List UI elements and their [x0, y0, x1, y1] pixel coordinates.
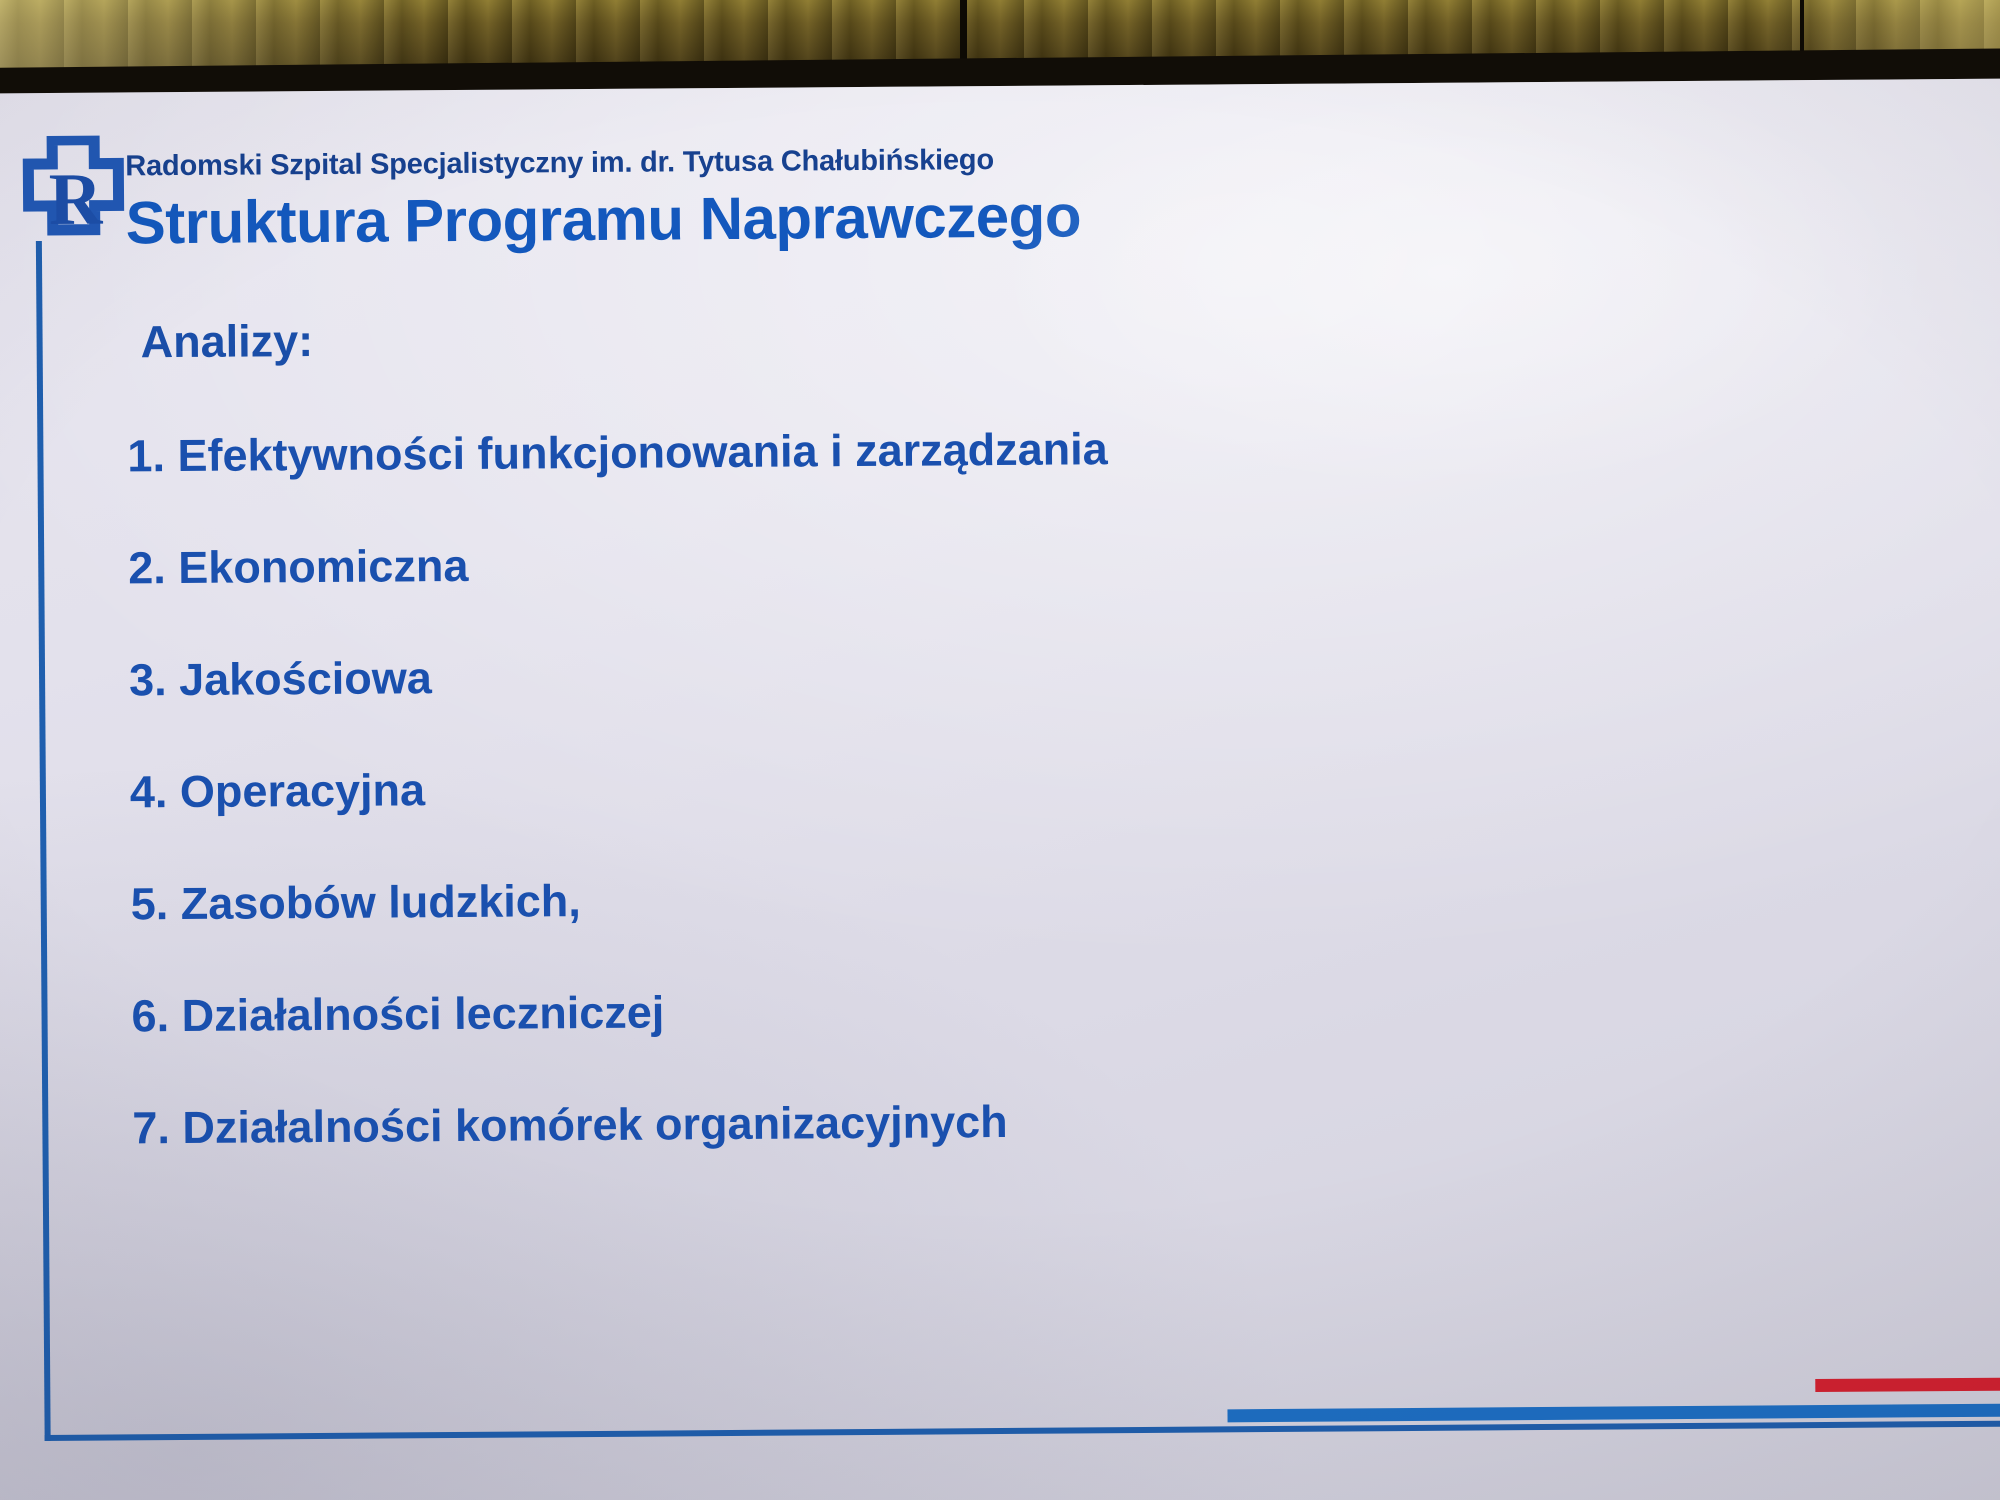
list-item: 6. Działalności leczniczej — [131, 978, 1831, 1042]
slide-body: Analizy: 1. Efektywności funkcjonowania … — [126, 304, 1833, 1214]
list-item: 5. Zasobów ludzkich, — [131, 866, 1831, 930]
hospital-cross-r-logo: R — [15, 135, 136, 258]
photograph-of-projection-screen: R Radomski Szpital Specjalistyczny im. d… — [0, 0, 2000, 1500]
slide-title: Struktura Programu Naprawczego — [125, 181, 1081, 257]
list-item: 1. Efektywności funkcjonowania i zarządz… — [127, 418, 1827, 482]
slide-bottom-rule — [45, 1420, 2000, 1441]
presentation-slide: R Radomski Szpital Specjalistyczny im. d… — [0, 79, 2000, 1500]
organization-name: Radomski Szpital Specjalistyczny im. dr.… — [125, 144, 994, 183]
list-item: 2. Ekonomiczna — [128, 530, 1828, 594]
footer-accent-bar-red — [1815, 1377, 2000, 1392]
slide-left-rule — [36, 241, 51, 1441]
lead-label: Analizy: — [140, 304, 1826, 368]
footer-accent-bar-blue — [1227, 1403, 2000, 1422]
list-item: 3. Jakościowa — [129, 642, 1829, 706]
list-item: 4. Operacyjna — [130, 754, 1830, 818]
list-item: 7. Działalności komórek organizacyjnych — [132, 1090, 1832, 1154]
svg-text:R: R — [49, 159, 105, 241]
